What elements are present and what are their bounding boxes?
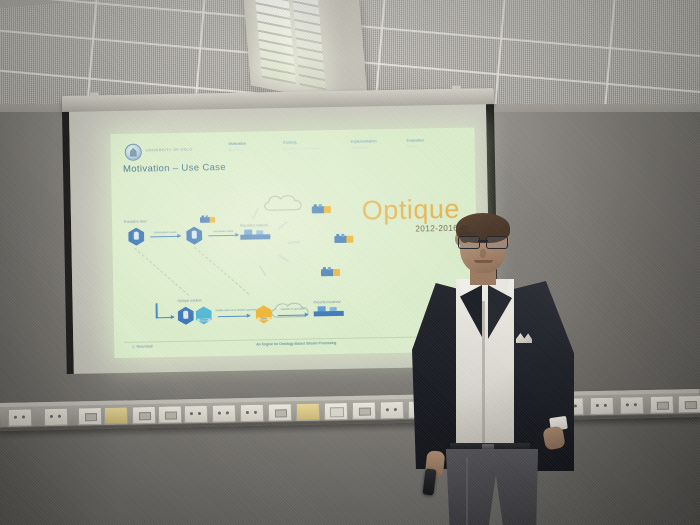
university-of-oslo-seal-icon xyxy=(125,144,142,161)
nav-progress-dots: ○○○○○○○ xyxy=(351,145,377,149)
power-socket[interactable] xyxy=(240,404,264,422)
diagram-arrow-information-need xyxy=(150,236,180,238)
diagram-node-optique-user xyxy=(178,307,194,325)
nav-label: Motivation xyxy=(229,142,246,146)
slide-nav-item-implementation: Implementation ○○○○○○○ xyxy=(351,139,377,149)
node-caption-recorded-material: Recorded material xyxy=(240,223,268,228)
footer-talk-title: An Engine for Ontology-Based Stream Proc… xyxy=(256,341,336,346)
glasses-lens-left xyxy=(458,236,480,249)
nav-label: Implementation xyxy=(351,139,377,143)
nav-label: Evaluation xyxy=(407,138,425,142)
rig-tank xyxy=(324,206,331,213)
power-socket[interactable] xyxy=(380,401,404,419)
nav-progress-dots: ●○○○○○ xyxy=(229,147,246,151)
user-glyph xyxy=(192,231,197,239)
power-socket[interactable] xyxy=(184,405,208,423)
screen-bracket xyxy=(90,92,99,98)
special-socket[interactable] xyxy=(296,403,320,421)
diagram-arrow-label: translated data xyxy=(207,229,239,234)
diagram-dashed-connector xyxy=(194,247,249,295)
data-socket[interactable] xyxy=(268,403,292,421)
diagram-node-domain-expert xyxy=(186,226,202,244)
mouth xyxy=(474,260,493,263)
nose xyxy=(480,249,486,258)
slide-nav-item-motivation: Motivation ●○○○○○ xyxy=(229,142,246,152)
institution-label: UNIVERSITY OF OSLO xyxy=(146,148,193,153)
diagram-arrow-label: information need xyxy=(149,230,181,235)
diagram-arrow-build-run-queries xyxy=(218,316,250,318)
data-stream-label: 000000 xyxy=(277,220,289,231)
trousers xyxy=(444,449,540,525)
data-stream-label: 000000 xyxy=(251,207,260,219)
optique-hex-label: Optique xyxy=(197,318,211,322)
cloud-top-icon xyxy=(262,193,306,216)
special-socket[interactable] xyxy=(104,406,128,424)
diagram-arrow-translated-data xyxy=(208,235,238,237)
presenter xyxy=(404,205,584,525)
screen-bracket xyxy=(452,86,461,92)
shirt-placket xyxy=(482,301,485,449)
slide-nav-item-starql: STARQL ○○○○○○○○○○○○○○ xyxy=(283,140,320,150)
data-socket[interactable] xyxy=(650,395,674,413)
diagram-elbow-arrow xyxy=(156,317,174,319)
node-caption-optique-solution: Optique solution xyxy=(177,298,202,302)
diagram-node-result-platform xyxy=(314,306,344,320)
diagram-rig-icon-upper xyxy=(312,204,332,215)
nav-label: STARQL xyxy=(283,140,320,145)
data-socket[interactable] xyxy=(78,407,102,425)
node-caption-reported-material: Reported material xyxy=(313,300,340,304)
power-socket[interactable] xyxy=(590,397,614,415)
platform-deck xyxy=(314,311,344,317)
diagram-arrow-label: builds and runs stream queries xyxy=(216,308,252,313)
diagram-rig-icon-lower xyxy=(321,267,341,278)
data-socket[interactable] xyxy=(352,401,376,419)
glasses-bridge xyxy=(478,240,488,242)
diagram-node-engineer-user xyxy=(128,228,144,246)
light-tube xyxy=(254,0,296,84)
power-socket[interactable] xyxy=(8,408,32,426)
rig-tank xyxy=(346,236,353,243)
power-socket[interactable] xyxy=(44,408,68,426)
presentation-clicker[interactable] xyxy=(422,468,436,495)
eyebrow-left xyxy=(459,232,477,235)
diagram-dashed-connector xyxy=(134,248,189,296)
platform-deck xyxy=(240,234,270,240)
light-switch[interactable] xyxy=(324,402,348,420)
diagram-rig-icon-top xyxy=(200,215,216,224)
footer-author: C. Neuenstadt xyxy=(132,344,152,348)
glasses-lens-right xyxy=(486,236,508,249)
glasses-icon xyxy=(458,236,508,248)
diagram-node-optique-platform: Optique xyxy=(196,306,212,324)
data-socket[interactable] xyxy=(132,406,156,424)
hand-right xyxy=(542,425,566,450)
diagram-elbow-stem xyxy=(156,303,158,318)
data-stream-label: 000000 xyxy=(258,264,267,276)
user-glyph xyxy=(183,311,188,319)
light-tube xyxy=(292,0,326,90)
trouser-crease xyxy=(466,457,468,525)
data-stream-label: 000000 xyxy=(278,253,290,263)
rig-tank xyxy=(210,217,216,223)
rig-tank xyxy=(333,269,340,276)
slide-title: Motivation – Use Case xyxy=(123,162,226,175)
data-socket[interactable] xyxy=(678,395,700,413)
query-hex-label: Query answered xyxy=(257,317,271,321)
presentation-photo: UNIVERSITY OF OSLO Motivation ●○○○○○ STA… xyxy=(0,0,700,525)
diagram-arrow-label: results in seconds xyxy=(276,306,310,311)
nav-progress-dots: ○○○○ xyxy=(407,144,425,148)
power-socket[interactable] xyxy=(212,404,236,422)
user-glyph xyxy=(134,232,139,240)
data-socket[interactable] xyxy=(158,405,182,423)
node-caption-executive: Executive view xyxy=(124,219,147,223)
slide-nav-item-evaluation: Evaluation ○○○○ xyxy=(407,138,425,148)
power-socket[interactable] xyxy=(620,396,644,414)
nav-progress-dots: ○○○○○○○○○○○○○○ xyxy=(283,146,320,151)
diagram-rig-icon-middle xyxy=(334,234,354,245)
eyebrow-right xyxy=(488,232,506,235)
diagram-node-data-platform xyxy=(240,229,270,243)
data-stream-label: 000000 xyxy=(288,240,300,245)
